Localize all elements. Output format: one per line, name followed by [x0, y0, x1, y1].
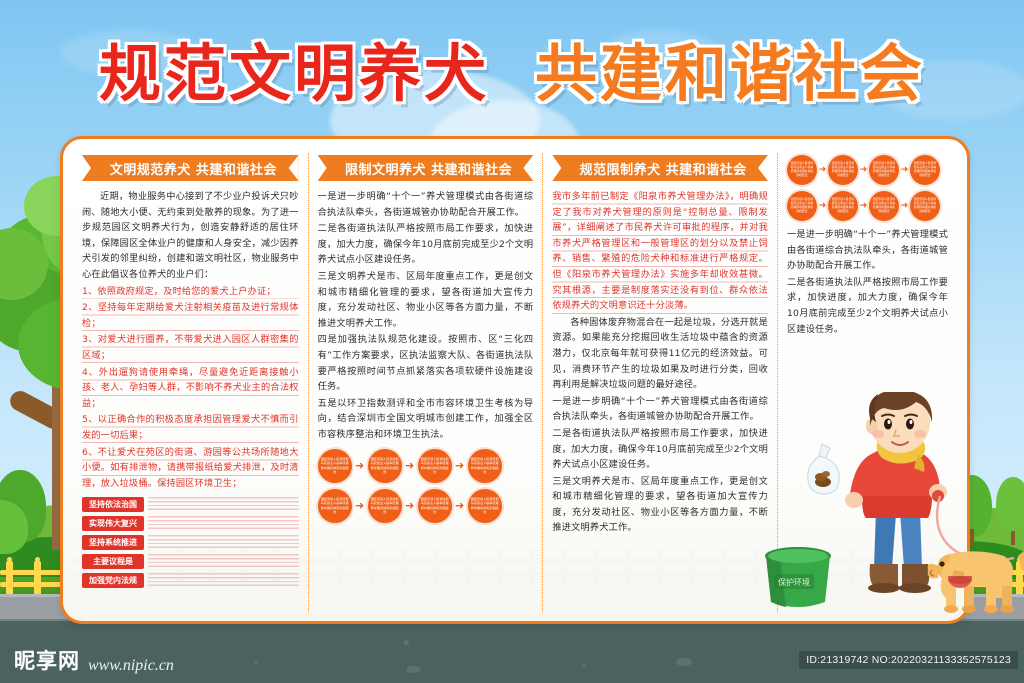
- flow-circle: 团结带领人民坚持把马克思主义基本原理同中国具体实际相结合: [418, 489, 452, 523]
- arrow-right-icon: ➜: [899, 202, 910, 211]
- table-row: 加强党内法规: [82, 573, 299, 588]
- flow-row: 团结带领人民坚持把马克思主义基本原理同中国具体实际相结合 ➜ 团结带领人民坚持把…: [318, 449, 534, 483]
- column-1-items: 1、依照政府规定，及时给您的爱犬上户办证； 2、坚持每年定期给爱犬注射相关疫苗及…: [82, 284, 299, 492]
- flow-circle-label: 团结带领人民坚持把马克思主义基本原理同中国具体实际相结合: [830, 162, 855, 178]
- trash-bin-icon: 保护环境: [760, 544, 836, 610]
- list-item: 5、以正确合作的积极态度承担因管理爱犬不慎而引发的一切后果；: [82, 412, 299, 443]
- column-3-heading: 规范限制养犬 共建和谐社会: [552, 155, 768, 181]
- paragraph: 三是文明养犬是市、区局年度重点工作，更是创文和城市精细化管理的要求，望各街道加大…: [552, 474, 768, 536]
- flow-circle: 团结带领人民坚持把马克思主义基本原理同中国具体实际相结合: [787, 191, 817, 221]
- column-1-intro: 近期，物业服务中心接到了不少业户投诉犬只吵闹、随地大小便、无约束到处散养的现象。…: [82, 189, 299, 283]
- asset-id-label: ID:21319742 NO:20220321133352575123: [799, 651, 1018, 669]
- column-2-heading: 限制文明养犬 共建和谐社会: [318, 155, 534, 181]
- paragraph: 一是进一步明确“十个一”养犬管理模式由各街道综合执法队牵头，各街道城管办协助配合…: [552, 394, 768, 425]
- arrow-right-icon: ➜: [352, 460, 368, 471]
- arrow-right-icon: ➜: [817, 166, 828, 175]
- paragraph: 各种固体废弃物混合在一起是垃圾，分选开就是资源。如果能充分挖掘回收生活垃圾中蕴含…: [552, 315, 768, 393]
- arrow-right-icon: ➜: [817, 202, 828, 211]
- arrow-right-icon: ➜: [402, 460, 418, 471]
- column-2-flow-diagram: 团结带领人民坚持把马克思主义基本原理同中国具体实际相结合 ➜ 团结带领人民坚持把…: [318, 449, 534, 523]
- paragraph: 二是各街道执法队严格按照市局工作要求，加快进度，加大力度，确保今年10月底前完成…: [787, 275, 948, 337]
- flow-row: 团结带领人民坚持把马克思主义基本原理同中国具体实际相结合 ➜ 团结带领人民坚持把…: [787, 191, 948, 221]
- status-badge: 加强党内法规: [82, 573, 144, 588]
- site-url: www.nipic.cn: [88, 657, 174, 675]
- site-logo: 昵享网: [14, 645, 80, 675]
- paragraph: 一是进一步明确“十个一”养犬管理模式由各街道综合执法队牵头，各街道城管办协助配合…: [318, 189, 534, 220]
- status-badge: 坚持系统推进: [82, 535, 144, 550]
- footer-watermark-bar: 昵享网 www.nipic.cn ID:21319742 NO:20220321…: [0, 630, 1024, 683]
- row-filler-text: [148, 573, 299, 588]
- arrow-right-icon: ➜: [452, 460, 468, 471]
- table-row: 坚持系统推进: [82, 535, 299, 550]
- paragraph: 一是进一步明确“十个一”养犬管理模式由各街道综合执法队牵头，各街道城管办协助配合…: [787, 227, 948, 274]
- paragraph-highlight: 我市多年前已制定《阳泉市养犬管理办法》，明确规定了我市对养犬管理的原则是“控制总…: [552, 189, 768, 314]
- flow-circle: 团结带领人民坚持把马克思主义基本原理同中国具体实际相结合: [910, 191, 940, 221]
- flow-circle-label: 团结带领人民坚持把马克思主义基本原理同中国具体实际相结合: [371, 457, 399, 475]
- paragraph: 三是文明养犬是市、区局年度重点工作，更是创文和城市精细化管理的要求，望各街道加大…: [318, 269, 534, 331]
- site-watermark: 昵享网 www.nipic.cn: [14, 645, 174, 675]
- poster-canvas: 规范文明养犬共建和谐社会 文明规范养犬 共建和谐社会 近期，物: [0, 0, 1024, 683]
- arrow-right-icon: ➜: [352, 500, 368, 511]
- flow-circle-label: 团结带领人民坚持把马克思主义基本原理同中国具体实际相结合: [321, 497, 349, 515]
- flow-row: 团结带领人民坚持把马克思主义基本原理同中国具体实际相结合 ➜ 团结带领人民坚持把…: [787, 155, 948, 185]
- flow-circle-label: 团结带领人民坚持把马克思主义基本原理同中国具体实际相结合: [321, 457, 349, 475]
- column-3-highlight: 我市多年前已制定《阳泉市养犬管理办法》，明确规定了我市对养犬管理的原则是“控制总…: [552, 189, 768, 314]
- flow-circle: 团结带领人民坚持把马克思主义基本原理同中国具体实际相结合: [318, 489, 352, 523]
- table-row: 主要议程是: [82, 554, 299, 569]
- arrow-right-icon: ➜: [899, 166, 910, 175]
- row-filler-text: [148, 554, 299, 569]
- svg-text:保护环境: 保护环境: [778, 577, 810, 587]
- arrow-right-icon: ➜: [858, 202, 869, 211]
- row-filler-text: [148, 516, 299, 531]
- flow-circle-label: 团结带领人民坚持把马克思主义基本原理同中国具体实际相结合: [789, 198, 814, 214]
- flow-circle-label: 团结带领人民坚持把马克思主义基本原理同中国具体实际相结合: [371, 497, 399, 515]
- flow-row: 团结带领人民坚持把马克思主义基本原理同中国具体实际相结合 ➜ 团结带领人民坚持把…: [318, 489, 534, 523]
- flow-circle-label: 团结带领人民坚持把马克思主义基本原理同中国具体实际相结合: [789, 162, 814, 178]
- column-1: 文明规范养犬 共建和谐社会 近期，物业服务中心接到了不少业户投诉犬只吵闹、随地大…: [73, 153, 308, 613]
- illustration-scene: 保护环境: [820, 392, 1024, 622]
- flow-circle-label: 团结带领人民坚持把马克思主义基本原理同中国具体实际相结合: [471, 497, 499, 515]
- flow-circle-label: 团结带领人民坚持把马克思主义基本原理同中国具体实际相结合: [871, 198, 896, 214]
- page-title: 规范文明养犬共建和谐社会: [0, 38, 1024, 110]
- table-row: 坚持依法治国: [82, 497, 299, 512]
- paragraph: 四是加强执法队规范化建设。按照市、区“三化四有”工作方案要求，区执法监察大队、各…: [318, 332, 534, 394]
- flow-circle: 团结带领人民坚持把马克思主义基本原理同中国具体实际相结合: [368, 489, 402, 523]
- list-item: 1、依照政府规定，及时给您的爱犬上户办证；: [82, 284, 299, 300]
- flow-circle-label: 团结带领人民坚持把马克思主义基本原理同中国具体实际相结合: [871, 162, 896, 178]
- row-filler-text: [148, 535, 299, 550]
- table-row: 实现伟大复兴: [82, 516, 299, 531]
- flow-circle: 团结带领人民坚持把马克思主义基本原理同中国具体实际相结合: [468, 449, 502, 483]
- list-item: 2、坚持每年定期给爱犬注射相关疫苗及进行常规体检；: [82, 300, 299, 331]
- flow-circle-label: 团结带领人民坚持把马克思主义基本原理同中国具体实际相结合: [421, 497, 449, 515]
- status-badge: 实现伟大复兴: [82, 516, 144, 531]
- list-item: 4、外出遛狗请使用牵绳，尽量避免近距离接触小孩、老人、孕妇等人群，不影响不养犬业…: [82, 365, 299, 412]
- flow-circle-label: 团结带领人民坚持把马克思主义基本原理同中国具体实际相结合: [912, 162, 937, 178]
- flow-circle: 团结带领人民坚持把马克思主义基本原理同中国具体实际相结合: [869, 191, 899, 221]
- flow-circle: 团结带领人民坚持把马克思主义基本原理同中国具体实际相结合: [828, 191, 858, 221]
- flow-circle-label: 团结带领人民坚持把马克思主义基本原理同中国具体实际相结合: [912, 198, 937, 214]
- flow-circle: 团结带领人民坚持把马克思主义基本原理同中国具体实际相结合: [869, 155, 899, 185]
- flow-circle-label: 团结带领人民坚持把马克思主义基本原理同中国具体实际相结合: [830, 198, 855, 214]
- flow-circle: 团结带领人民坚持把马克思主义基本原理同中国具体实际相结合: [368, 449, 402, 483]
- flow-circle: 团结带领人民坚持把马克思主义基本原理同中国具体实际相结合: [787, 155, 817, 185]
- flow-circle: 团结带领人民坚持把马克思主义基本原理同中国具体实际相结合: [468, 489, 502, 523]
- column-1-heading: 文明规范养犬 共建和谐社会: [82, 155, 299, 181]
- list-item: 3、对爱犬进行圈养，不带爱犬进入园区人群密集的区域；: [82, 332, 299, 363]
- paragraph: 二是各街道执法队严格按照市局工作要求，加快进度，加大力度，确保今年10月底前完成…: [552, 426, 768, 473]
- column-3: 规范限制养犬 共建和谐社会 我市多年前已制定《阳泉市养犬管理办法》，明确规定了我…: [542, 153, 777, 613]
- paragraph: 二是各街道执法队严格按照市局工作要求，加快进度，加大力度，确保今年10月底前完成…: [318, 221, 534, 268]
- dog-illustration: [924, 530, 1024, 616]
- column-1-tag-rows: 坚持依法治国 实现伟大复兴 坚持系统推进 主要议程是: [82, 497, 299, 588]
- paragraph: 五是以环卫指数测评和全市市容环境卫生考核为导向，结合深圳市全国文明城市创建工作，…: [318, 396, 534, 443]
- title-orange: 共建和谐社会: [535, 37, 925, 110]
- title-red: 规范文明养犬: [99, 37, 489, 110]
- flow-circle: 团结带领人民坚持把马克思主义基本原理同中国具体实际相结合: [418, 449, 452, 483]
- column-4-flow-diagram: 团结带领人民坚持把马克思主义基本原理同中国具体实际相结合 ➜ 团结带领人民坚持把…: [787, 155, 948, 221]
- row-filler-text: [148, 497, 299, 512]
- status-badge: 坚持依法治国: [82, 497, 144, 512]
- column-2: 限制文明养犬 共建和谐社会 一是进一步明确“十个一”养犬管理模式由各街道综合执法…: [308, 153, 543, 613]
- flow-circle-label: 团结带领人民坚持把马克思主义基本原理同中国具体实际相结合: [471, 457, 499, 475]
- status-badge: 主要议程是: [82, 554, 144, 569]
- flow-circle-label: 团结带领人民坚持把马克思主义基本原理同中国具体实际相结合: [421, 457, 449, 475]
- arrow-right-icon: ➜: [402, 500, 418, 511]
- arrow-right-icon: ➜: [452, 500, 468, 511]
- flow-circle: 团结带领人民坚持把马克思主义基本原理同中国具体实际相结合: [828, 155, 858, 185]
- flow-circle: 团结带领人民坚持把马克思主义基本原理同中国具体实际相结合: [910, 155, 940, 185]
- arrow-right-icon: ➜: [858, 166, 869, 175]
- list-item: 6、不让爱犬在苑区的街道、游园等公共场所随地大小便。如有排泄物，请携带报纸给爱犬…: [82, 445, 299, 492]
- flow-circle: 团结带领人民坚持把马克思主义基本原理同中国具体实际相结合: [318, 449, 352, 483]
